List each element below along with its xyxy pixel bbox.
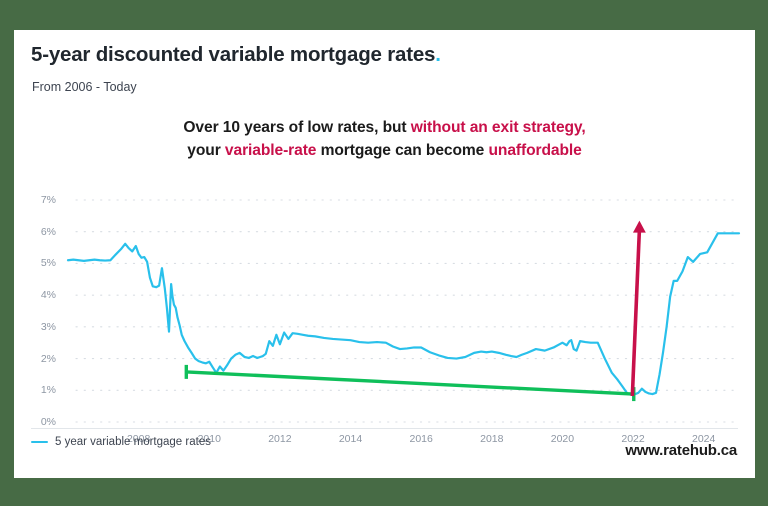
legend-label-variable-rates: 5 year variable mortgage rates — [55, 436, 211, 448]
x-axis-tick-2016: 2016 — [409, 433, 432, 445]
y-axis-tick-0%: 0% — [22, 416, 56, 428]
y-axis-tick-3%: 3% — [22, 321, 56, 333]
chart-annotation-layer — [186, 221, 646, 401]
y-axis-tick-4%: 4% — [22, 289, 56, 301]
line-chart-plot — [14, 30, 755, 478]
footer-divider — [31, 428, 738, 429]
y-axis-tick-5%: 5% — [22, 257, 56, 269]
x-axis-tick-2018: 2018 — [480, 433, 503, 445]
x-axis-tick-2012: 2012 — [268, 433, 291, 445]
y-axis-tick-1%: 1% — [22, 384, 56, 396]
site-url: www.ratehub.ca — [625, 442, 737, 459]
x-axis-tick-2014: 2014 — [339, 433, 362, 445]
y-axis-tick-6%: 6% — [22, 226, 56, 238]
chart-card: 5-year discounted variable mortgage rate… — [14, 30, 755, 478]
rate-spike-arrow-head — [633, 221, 646, 233]
low-rate-era-trend — [186, 372, 633, 394]
y-axis-tick-7%: 7% — [22, 194, 56, 206]
rate-spike-arrow-shaft — [632, 230, 639, 396]
legend-line-swatch — [31, 441, 48, 444]
chart-legend: 5 year variable mortgage rates — [31, 436, 211, 448]
y-axis-tick-2%: 2% — [22, 353, 56, 365]
x-axis-tick-2020: 2020 — [551, 433, 574, 445]
